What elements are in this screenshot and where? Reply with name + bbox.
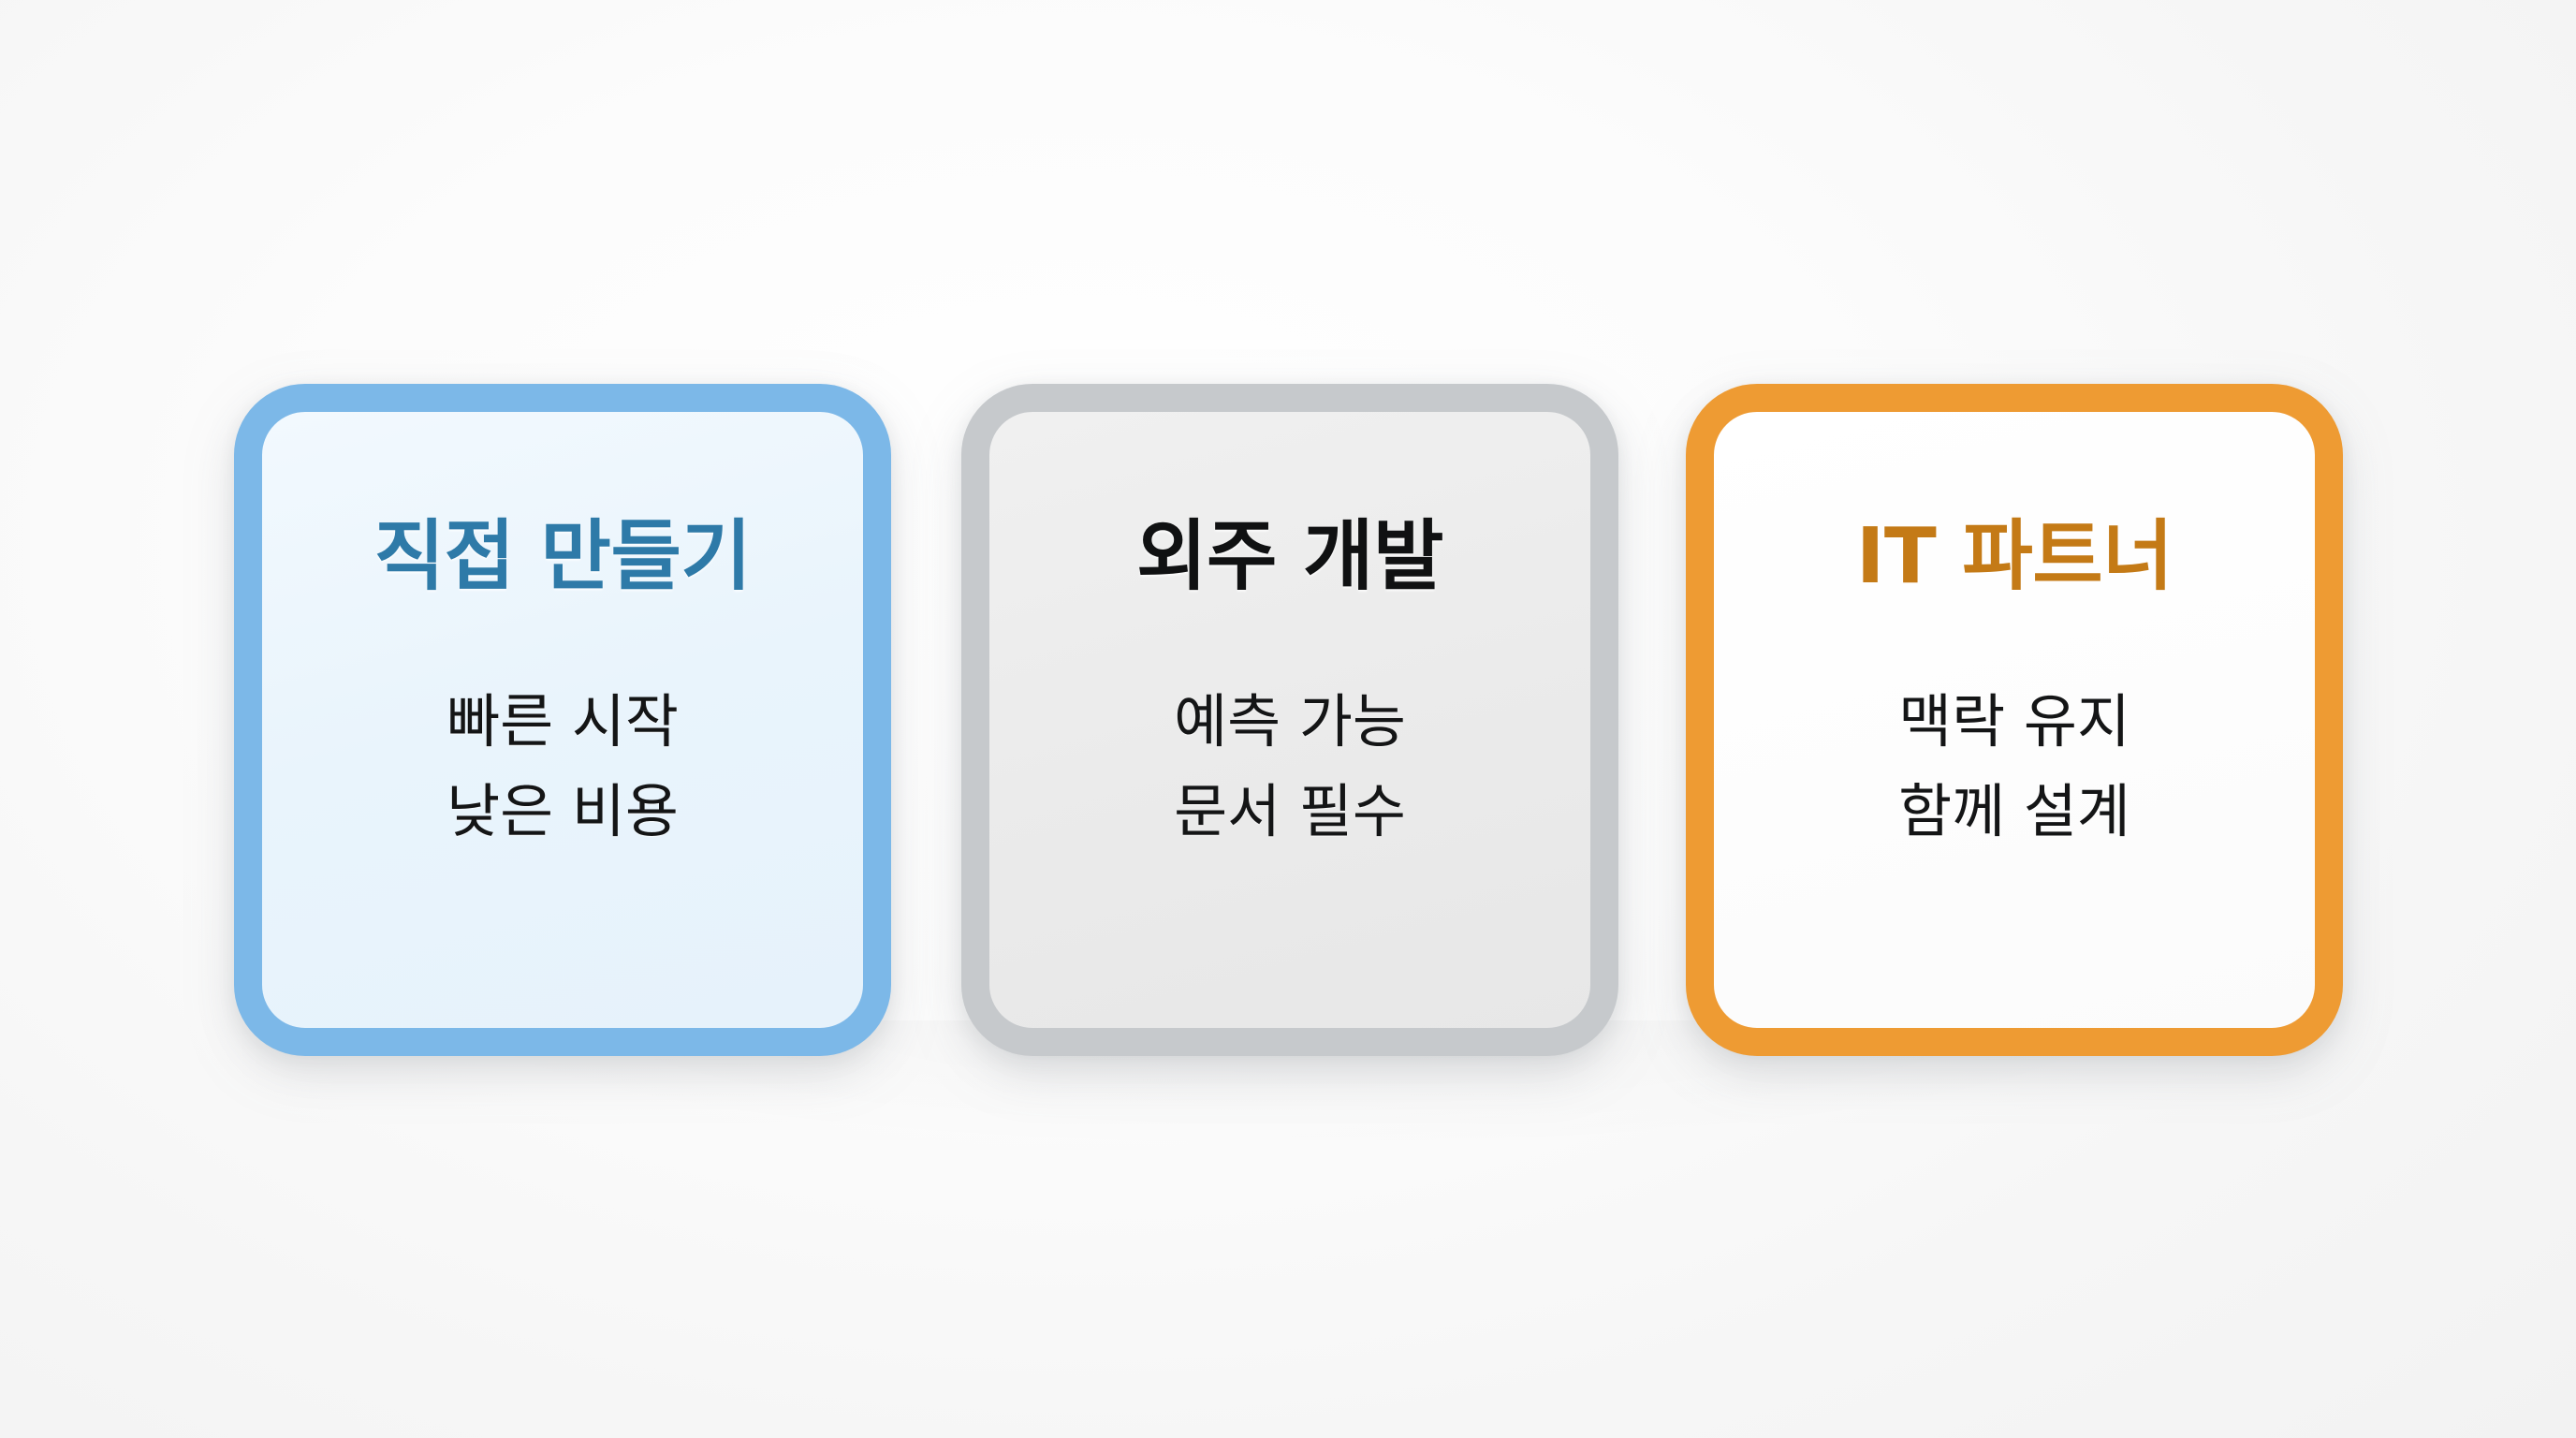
card-body-line: 낮은 비용 xyxy=(446,779,679,844)
card-outsourced-development[interactable]: 외주 개발 예측 가능 문서 필수 xyxy=(961,384,1618,1056)
card-body-line: 함께 설계 xyxy=(1898,779,2130,844)
comparison-card-row: 직접 만들기 빠른 시작 낮은 비용 외주 개발 예측 가능 문서 필수 IT … xyxy=(0,0,2576,1438)
card-title: 직접 만들기 xyxy=(374,517,752,597)
card-build-in-house[interactable]: 직접 만들기 빠른 시작 낮은 비용 xyxy=(234,384,891,1056)
slide-canvas: 직접 만들기 빠른 시작 낮은 비용 외주 개발 예측 가능 문서 필수 IT … xyxy=(0,0,2576,1438)
card-it-partner[interactable]: IT 파트너 맥락 유지 함께 설계 xyxy=(1686,384,2343,1056)
card-body: 맥락 유지 함께 설계 xyxy=(1898,689,2130,844)
card-body-line: 빠른 시작 xyxy=(446,689,679,754)
card-body-line: 맥락 유지 xyxy=(1898,689,2130,754)
card-body: 예측 가능 문서 필수 xyxy=(1174,689,1406,844)
card-body: 빠른 시작 낮은 비용 xyxy=(446,689,679,844)
card-body-line: 문서 필수 xyxy=(1174,779,1406,844)
card-title: 외주 개발 xyxy=(1136,517,1443,597)
card-title: IT 파트너 xyxy=(1856,517,2173,597)
card-body-line: 예측 가능 xyxy=(1174,689,1406,754)
